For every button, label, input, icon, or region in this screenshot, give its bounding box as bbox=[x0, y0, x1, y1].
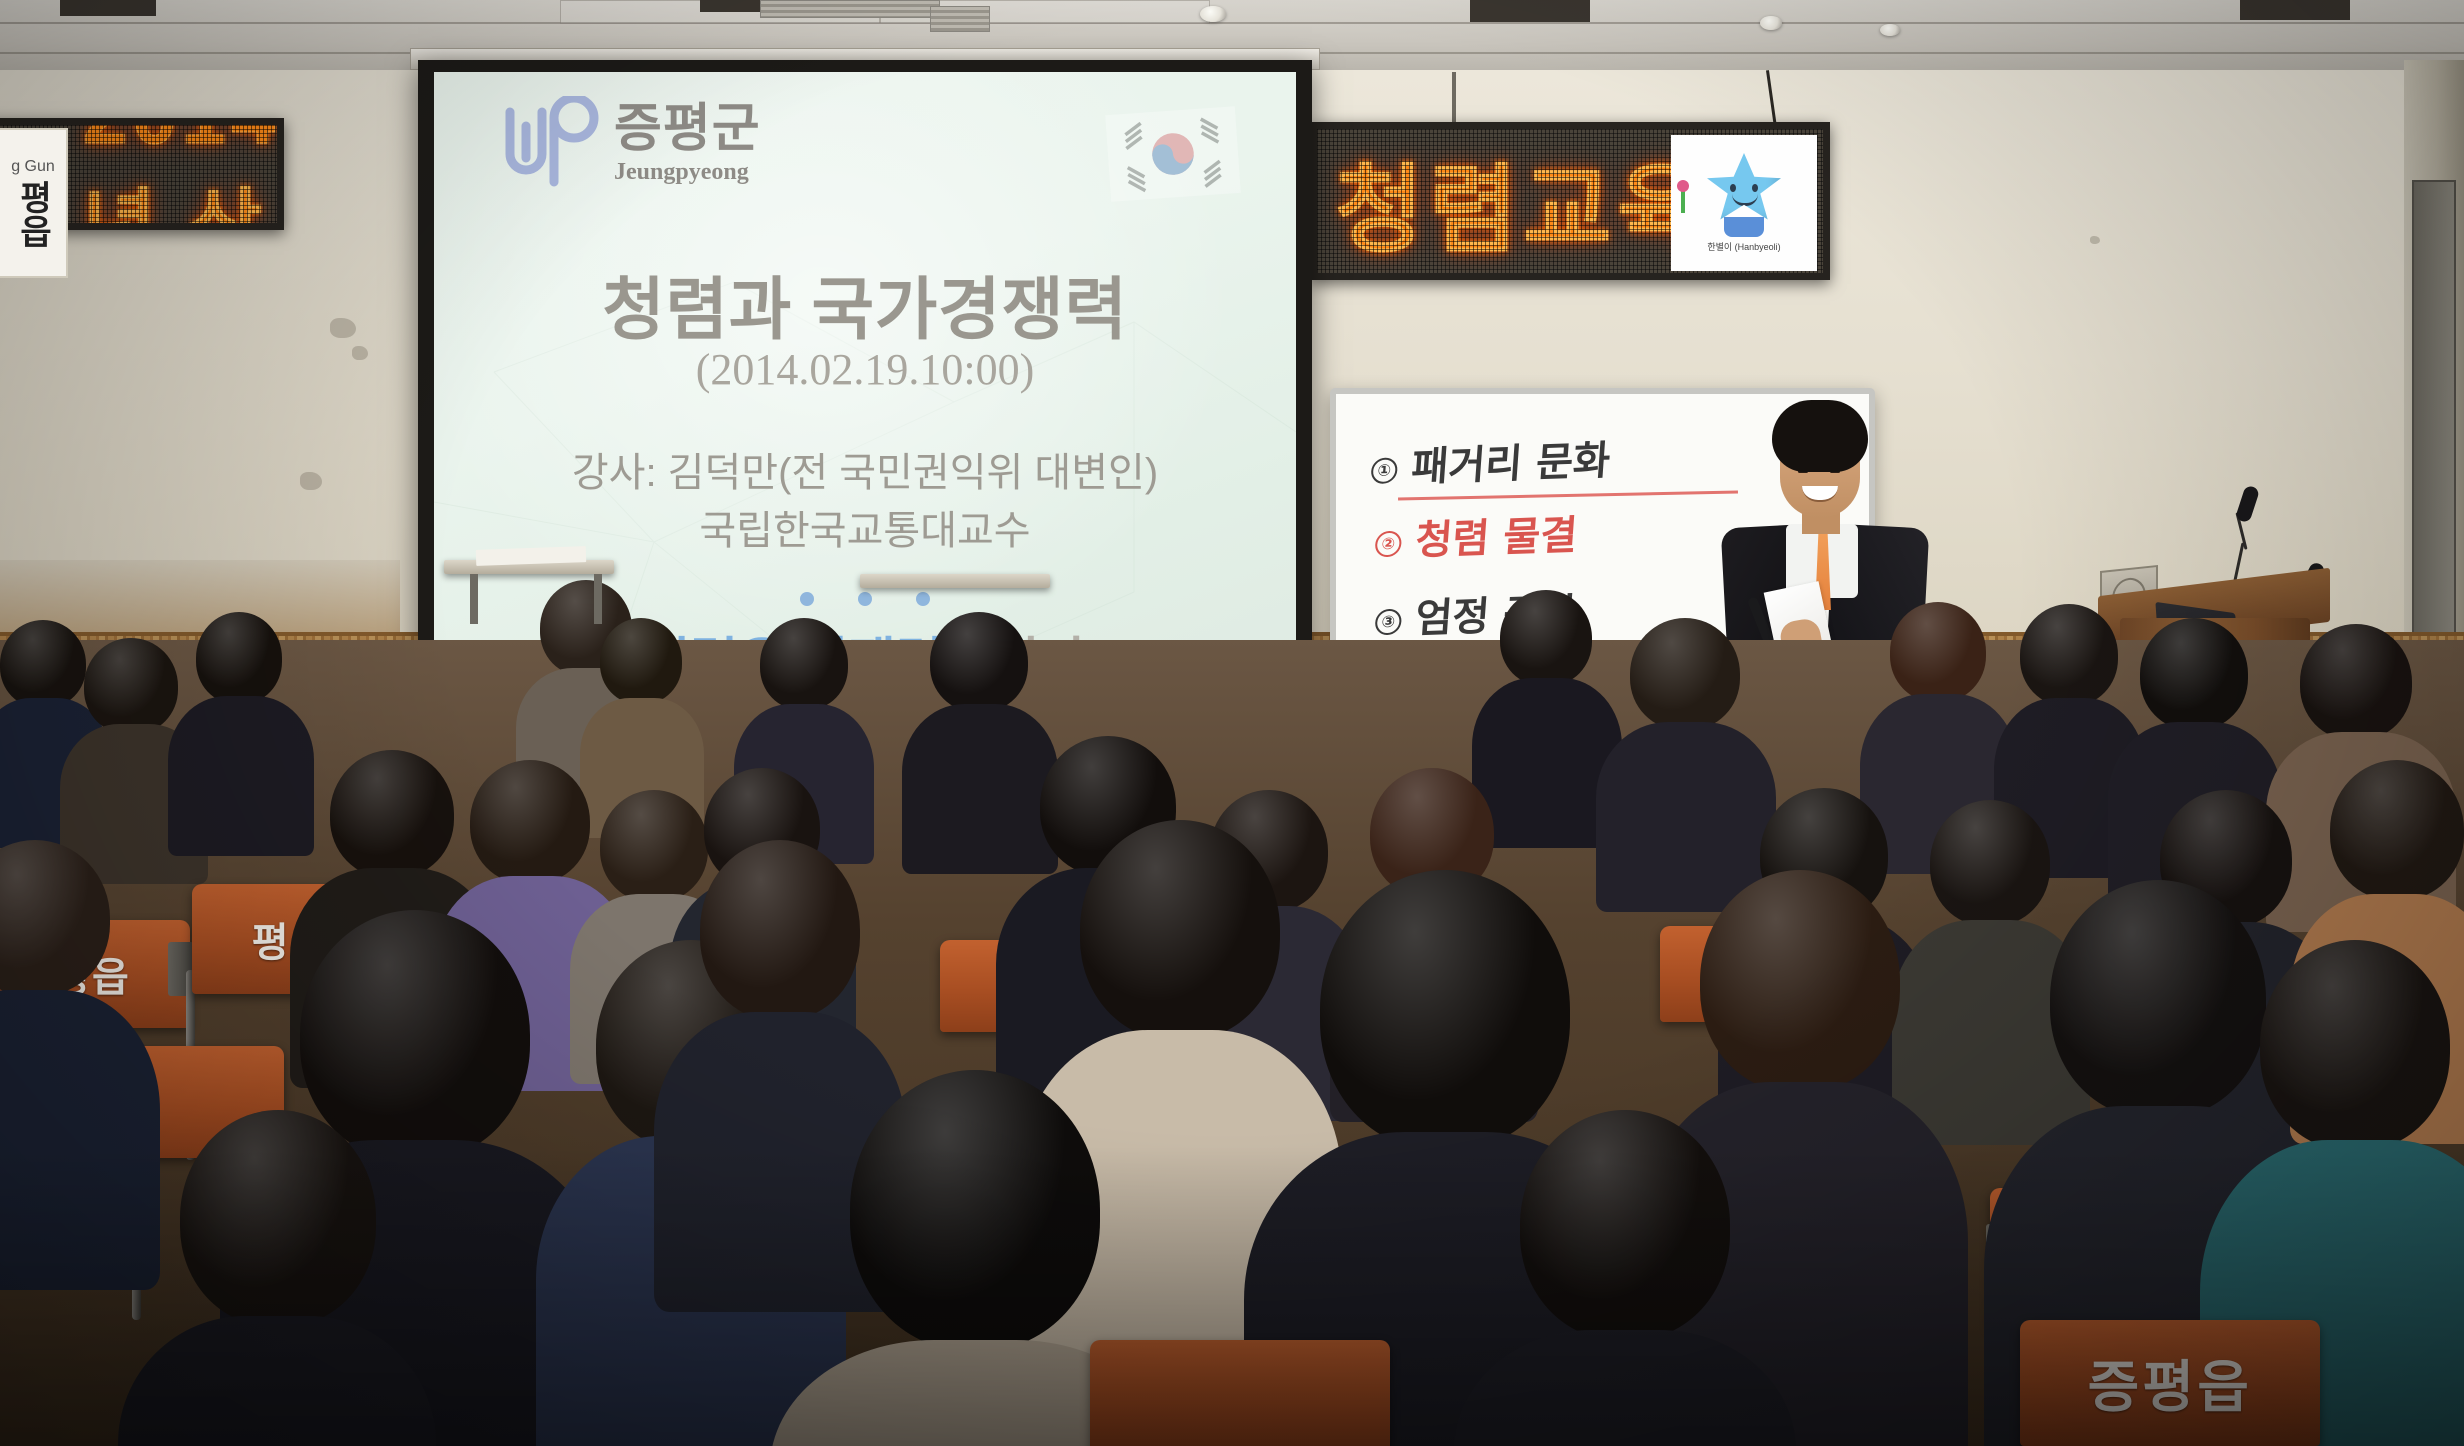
ceiling-seam bbox=[0, 22, 2464, 24]
flower-icon bbox=[1681, 187, 1685, 213]
wall-mark bbox=[352, 346, 368, 360]
whiteboard-bullet-2: ② bbox=[1374, 531, 1402, 558]
head bbox=[2020, 604, 2118, 706]
recessed-light bbox=[1880, 24, 1900, 36]
slide-date: (2014.02.19.10:00) bbox=[434, 344, 1296, 395]
whiteboard-text-1: 패거리 문화 bbox=[1410, 438, 1612, 491]
head bbox=[0, 620, 86, 708]
desk-leg bbox=[594, 574, 602, 624]
logo-wordmark: 증평군 Jeungpyeong bbox=[614, 103, 761, 186]
torso bbox=[902, 704, 1058, 874]
side-sign-english: g Gun bbox=[11, 158, 55, 176]
head bbox=[1630, 618, 1740, 730]
whiteboard-bullet-3: ③ bbox=[1374, 609, 1402, 636]
head bbox=[600, 790, 708, 902]
wall-mark bbox=[300, 472, 322, 490]
ceiling-recess bbox=[1470, 0, 1590, 22]
korean-flag-icon bbox=[1104, 94, 1241, 215]
head bbox=[196, 612, 282, 704]
torso bbox=[1596, 722, 1776, 912]
mascot-legs bbox=[1724, 217, 1764, 237]
head bbox=[1890, 602, 1986, 702]
mascot-panel: 한별이 (Hanbyeoli) bbox=[1671, 135, 1817, 271]
lecture-hall-photo: 2014년 상 g Gun 평읍 청렴교육 한별이 (Hanbyeoli) bbox=[0, 0, 2464, 1446]
whiteboard-line-1: ①패거리 문화 bbox=[1370, 428, 1613, 494]
head bbox=[760, 618, 848, 710]
head bbox=[2140, 618, 2248, 730]
logo-korean: 증평군 bbox=[614, 103, 761, 155]
ceiling-vent bbox=[930, 6, 990, 32]
head bbox=[84, 638, 178, 734]
head bbox=[1500, 590, 1592, 686]
head bbox=[1700, 870, 1900, 1092]
desk bbox=[860, 574, 1050, 588]
desk-leg bbox=[470, 574, 478, 624]
slide-title: 청렴과 국가경쟁력 bbox=[434, 254, 1296, 353]
whiteboard-line-2: ②청렴 물결 bbox=[1374, 503, 1580, 568]
dot-2 bbox=[858, 592, 872, 606]
torso bbox=[0, 990, 160, 1290]
mascot-eye-left bbox=[1730, 184, 1736, 192]
jp-monogram-icon bbox=[492, 96, 606, 192]
head bbox=[330, 750, 454, 878]
side-door[interactable] bbox=[2412, 180, 2456, 650]
head bbox=[700, 840, 860, 1020]
led-sign-right: 청렴교육 한별이 (Hanbyeoli) bbox=[1310, 122, 1830, 280]
star-mascot-icon bbox=[1707, 153, 1781, 223]
lecturer-line-1: 강사: 김덕만(전 국민권익위 대변인) bbox=[434, 444, 1296, 502]
head bbox=[2330, 760, 2464, 900]
side-sign-korean: 평읍 bbox=[9, 180, 58, 248]
head bbox=[2050, 880, 2266, 1118]
mascot-smile bbox=[1732, 194, 1758, 206]
head bbox=[1320, 870, 1570, 1150]
wall-mark bbox=[330, 318, 356, 338]
dot-3 bbox=[916, 592, 930, 606]
chair[interactable] bbox=[1090, 1340, 1390, 1446]
wall-mark bbox=[2090, 236, 2100, 244]
slide-lecturer: 강사: 김덕만(전 국민권익위 대변인) 국립한국교통대교수 bbox=[434, 444, 1296, 560]
head bbox=[600, 618, 682, 704]
dot-1 bbox=[800, 592, 814, 606]
ceiling-vent bbox=[760, 0, 940, 18]
mascot-caption: 한별이 (Hanbyeoli) bbox=[1707, 240, 1780, 253]
presenter-smile bbox=[1802, 486, 1838, 502]
ceiling-recess bbox=[60, 0, 156, 16]
side-sign: g Gun 평읍 bbox=[0, 128, 68, 278]
head bbox=[2300, 624, 2412, 740]
chair[interactable]: 증평읍 bbox=[2020, 1320, 2320, 1446]
logo-english: Jeungpyeong bbox=[614, 159, 749, 186]
audience-area: 평읍 평읍 증평읍 bbox=[0, 640, 2464, 1446]
whiteboard-bullet-1: ① bbox=[1370, 457, 1398, 484]
head bbox=[470, 760, 590, 884]
chair-label: 증평읍 bbox=[2020, 1343, 2320, 1424]
head bbox=[930, 612, 1028, 712]
head bbox=[2260, 940, 2450, 1150]
recessed-light bbox=[1760, 16, 1782, 30]
head bbox=[180, 1110, 376, 1326]
head bbox=[1930, 800, 2050, 926]
whiteboard-text-2: 청렴 물결 bbox=[1414, 513, 1579, 565]
recessed-light bbox=[1200, 6, 1226, 22]
ceiling-recess bbox=[2240, 0, 2350, 20]
presenter-hair bbox=[1772, 400, 1868, 472]
head bbox=[1080, 820, 1280, 1040]
torso bbox=[168, 696, 314, 856]
led-hanger bbox=[1452, 72, 1456, 124]
jeungpyeong-logo: 증평군 Jeungpyeong bbox=[492, 96, 761, 192]
head bbox=[300, 910, 530, 1160]
head bbox=[850, 1070, 1100, 1350]
mascot-eye-right bbox=[1752, 184, 1758, 192]
head bbox=[1520, 1110, 1730, 1340]
